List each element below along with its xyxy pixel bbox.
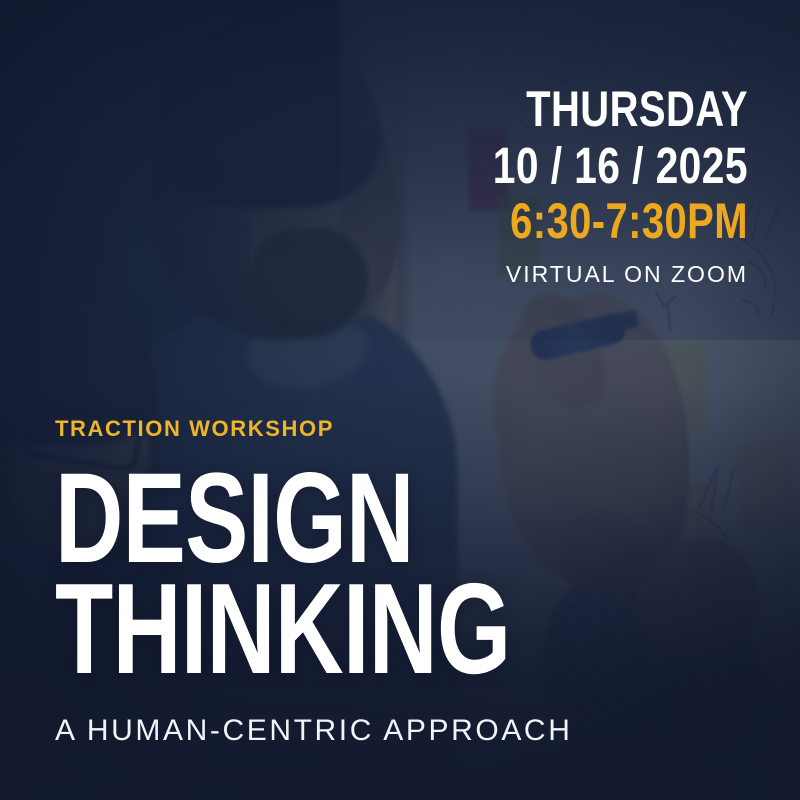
page-title: DESIGN THINKING [55, 464, 670, 684]
event-date: 10 / 16 / 2025 [493, 140, 748, 191]
poster-content: THURSDAY 10 / 16 / 2025 6:30-7:30PM VIRT… [0, 0, 800, 800]
event-date-block: THURSDAY 10 / 16 / 2025 6:30-7:30PM VIRT… [429, 84, 748, 286]
event-venue: VIRTUAL ON ZOOM [429, 263, 748, 286]
event-weekday: THURSDAY [493, 84, 748, 134]
event-poster: THURSDAY 10 / 16 / 2025 6:30-7:30PM VIRT… [0, 0, 800, 800]
event-time: 6:30-7:30PM [493, 196, 748, 246]
poster-tagline: A HUMAN-CENTRIC APPROACH [55, 714, 670, 748]
poster-title-block: TRACTION WORKSHOP DESIGN THINKING A HUMA… [55, 416, 670, 748]
workshop-eyebrow: TRACTION WORKSHOP [55, 416, 670, 442]
headline-line-thinking: THINKING [55, 574, 510, 684]
